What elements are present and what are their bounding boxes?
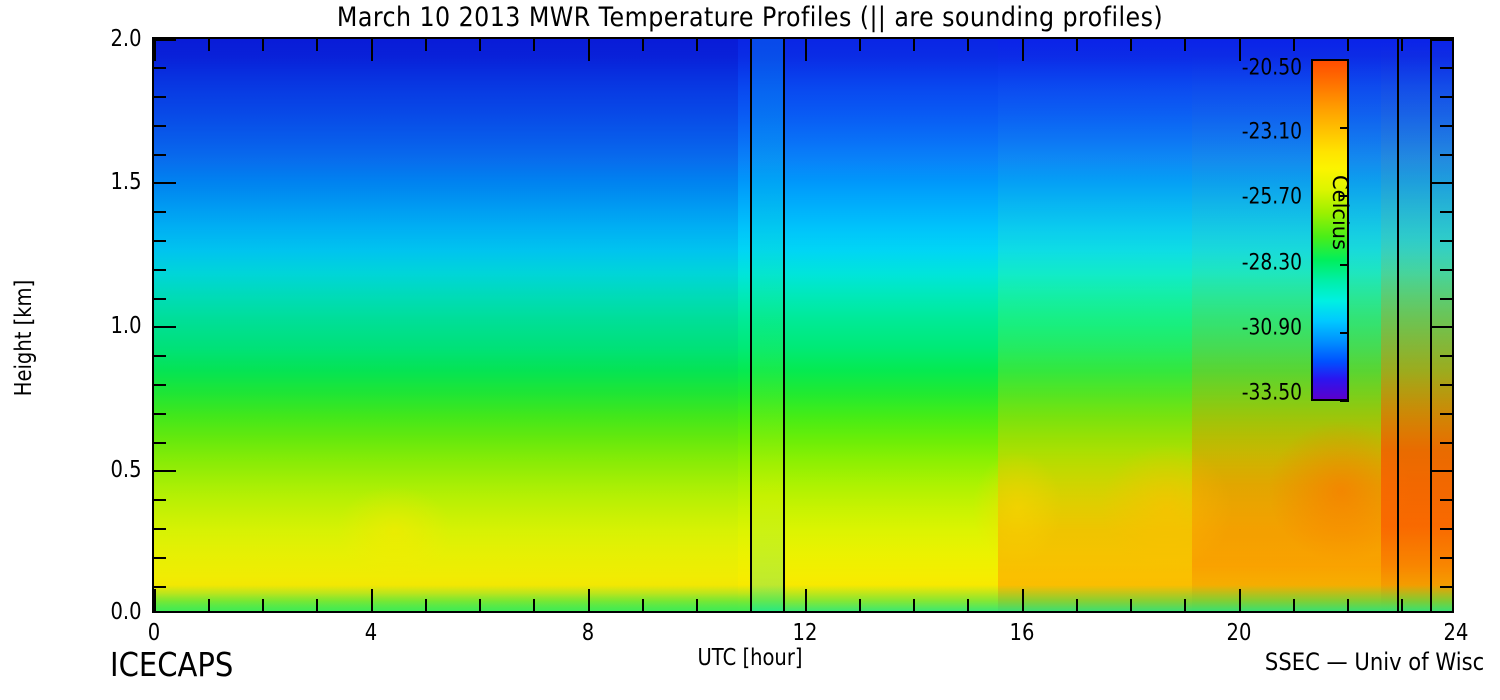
xtick-minor-bottom-17: [1076, 599, 1078, 611]
xtick-label-0: 0: [148, 620, 160, 646]
ytick-minor-left-1.4: [154, 211, 166, 213]
ytick-minor-left-1.1: [154, 298, 166, 300]
sounding-profile-marker-2b: [1430, 39, 1432, 611]
ytick-minor-left-1.2: [154, 269, 166, 271]
institution-credit: SSEC — Univ of Wisc: [1265, 648, 1484, 676]
xtick-minor-top-21: [1293, 39, 1295, 51]
colorbar-label-4: -30.90: [1207, 316, 1302, 341]
ytick-major-left-0.5: [154, 470, 176, 472]
xtick-major-bottom-4: [371, 589, 373, 611]
xtick-major-top-8: [588, 39, 590, 61]
xtick-major-top-4: [371, 39, 373, 61]
ytick-minor-left-0.4: [154, 499, 166, 501]
ytick-minor-left-0.8: [154, 384, 166, 386]
xtick-minor-top-6: [479, 39, 481, 51]
xtick-major-bottom-16: [1022, 589, 1024, 611]
colorbar-tick-0: [1340, 59, 1349, 61]
xtick-minor-top-3: [316, 39, 318, 51]
xtick-major-bottom-12: [805, 589, 807, 611]
ytick-minor-right-1.3: [1440, 240, 1452, 242]
colorbar-label-3: -28.30: [1207, 251, 1302, 276]
ytick-minor-right-1.4: [1440, 211, 1452, 213]
ytick-minor-left-1.6: [154, 154, 166, 156]
y-axis-title: Height [km]: [11, 245, 37, 432]
colorbar-unit-label: Celcius: [1328, 175, 1352, 250]
xtick-minor-bottom-18: [1130, 599, 1132, 611]
xtick-minor-bottom-19: [1184, 599, 1186, 611]
xtick-minor-top-18: [1130, 39, 1132, 51]
xtick-minor-top-15: [967, 39, 969, 51]
xtick-major-top-12: [805, 39, 807, 61]
ytick-minor-right-1.2: [1440, 269, 1452, 271]
ytick-major-right-1.5: [1430, 182, 1452, 184]
colorbar-label-1: -23.10: [1207, 120, 1302, 145]
ytick-minor-left-1.8: [154, 96, 166, 98]
xtick-minor-bottom-22: [1347, 599, 1349, 611]
colorbar-tick-4: [1340, 332, 1349, 334]
xtick-major-bottom-20: [1239, 589, 1241, 611]
x-axis-title: UTC [hour]: [113, 645, 1388, 671]
xtick-minor-bottom-5: [425, 599, 427, 611]
xtick-minor-bottom-1: [208, 599, 210, 611]
xtick-major-bottom-0: [154, 589, 156, 611]
xtick-minor-bottom-15: [967, 599, 969, 611]
ytick-minor-right-0.9: [1440, 355, 1452, 357]
ytick-minor-left-1.9: [154, 67, 166, 69]
xtick-minor-bottom-23: [1401, 599, 1403, 611]
xtick-minor-bottom-7: [533, 599, 535, 611]
xtick-label-12: 12: [793, 620, 818, 646]
xtick-label-20: 20: [1227, 620, 1252, 646]
colorbar-tick-1: [1340, 127, 1349, 129]
heatmap-warm-pocket-b: [972, 451, 1063, 565]
colorbar-label-2: -25.70: [1207, 185, 1302, 210]
ytick-minor-left-0.2: [154, 557, 166, 559]
xtick-major-top-0: [154, 39, 156, 61]
ytick-minor-left-0.9: [154, 355, 166, 357]
xtick-minor-top-10: [696, 39, 698, 51]
ytick-minor-right-1.9: [1440, 67, 1452, 69]
xtick-major-bottom-8: [588, 589, 590, 611]
ytick-minor-right-1.6: [1440, 154, 1452, 156]
heatmap-warm-pocket-d: [1270, 422, 1413, 559]
colorbar-tick-3: [1340, 264, 1349, 266]
xtick-minor-top-22: [1347, 39, 1349, 51]
xtick-minor-top-19: [1184, 39, 1186, 51]
ytick-major-right-2.0: [1430, 39, 1452, 41]
ytick-minor-left-0.6: [154, 442, 166, 444]
ytick-minor-right-1.8: [1440, 96, 1452, 98]
sounding-profile-marker-1a: [750, 39, 752, 611]
xtick-major-top-16: [1022, 39, 1024, 61]
plot-page: March 10 2013 MWR Temperature Profiles (…: [0, 0, 1500, 700]
ytick-label-2.0: 2.0: [111, 26, 142, 52]
ytick-minor-left-1.7: [154, 125, 166, 127]
ytick-label-0.5: 0.5: [111, 457, 142, 483]
xtick-minor-top-7: [533, 39, 535, 51]
colorbar-label-5: -33.50: [1207, 381, 1302, 406]
xtick-minor-bottom-9: [642, 599, 644, 611]
heatmap-warm-pocket-a: [336, 485, 453, 577]
ytick-minor-left-0.1: [154, 586, 166, 588]
ytick-minor-right-0.3: [1440, 528, 1452, 530]
ytick-label-1.5: 1.5: [111, 169, 142, 195]
page-title: March 10 2013 MWR Temperature Profiles (…: [90, 2, 1410, 33]
xtick-minor-bottom-21: [1293, 599, 1295, 611]
xtick-minor-top-5: [425, 39, 427, 51]
ytick-major-left-1.5: [154, 182, 176, 184]
colorbar-tick-5: [1340, 400, 1349, 402]
ytick-major-left-0.0: [154, 611, 176, 613]
xtick-minor-top-1: [208, 39, 210, 51]
sounding-profile-marker-2a: [1397, 39, 1399, 611]
ytick-minor-right-0.2: [1440, 557, 1452, 559]
xtick-minor-bottom-10: [696, 599, 698, 611]
xtick-minor-top-9: [642, 39, 644, 51]
ytick-minor-right-0.8: [1440, 384, 1452, 386]
ytick-major-right-1.0: [1430, 326, 1452, 328]
heatmap-col-sounding-mid: [751, 39, 783, 611]
ytick-minor-right-0.1: [1440, 586, 1452, 588]
xtick-minor-bottom-2: [262, 599, 264, 611]
xtick-minor-top-23: [1401, 39, 1403, 51]
xtick-minor-bottom-6: [479, 599, 481, 611]
xtick-minor-bottom-3: [316, 599, 318, 611]
xtick-minor-top-2: [262, 39, 264, 51]
xtick-minor-bottom-13: [859, 599, 861, 611]
xtick-minor-bottom-14: [913, 599, 915, 611]
heatmap-surface-layer-left: [154, 594, 751, 611]
colorbar-label-0: -20.50: [1207, 56, 1302, 81]
xtick-label-16: 16: [1010, 620, 1035, 646]
sounding-profile-marker-1b: [783, 39, 785, 611]
ytick-minor-left-0.7: [154, 413, 166, 415]
ytick-major-right-0.0: [1430, 611, 1452, 613]
ytick-label-1.0: 1.0: [111, 313, 142, 339]
heatmap-warm-pocket-c: [1102, 445, 1232, 571]
ytick-label-0.0: 0.0: [111, 599, 142, 625]
ytick-minor-right-0.6: [1440, 442, 1452, 444]
xtick-minor-top-14: [913, 39, 915, 51]
ytick-major-left-2.0: [154, 39, 176, 41]
xtick-label-24: 24: [1444, 620, 1469, 646]
xtick-label-4: 4: [365, 620, 377, 646]
xtick-label-8: 8: [582, 620, 594, 646]
xtick-minor-top-17: [1076, 39, 1078, 51]
ytick-minor-right-1.7: [1440, 125, 1452, 127]
ytick-minor-right-0.7: [1440, 413, 1452, 415]
ytick-minor-right-0.4: [1440, 499, 1452, 501]
ytick-minor-right-1.1: [1440, 298, 1452, 300]
ytick-major-right-0.5: [1430, 470, 1452, 472]
ytick-minor-left-1.3: [154, 240, 166, 242]
project-credit: ICECAPS: [110, 645, 233, 684]
ytick-minor-left-0.3: [154, 528, 166, 530]
ytick-major-left-1.0: [154, 326, 176, 328]
xtick-minor-top-13: [859, 39, 861, 51]
